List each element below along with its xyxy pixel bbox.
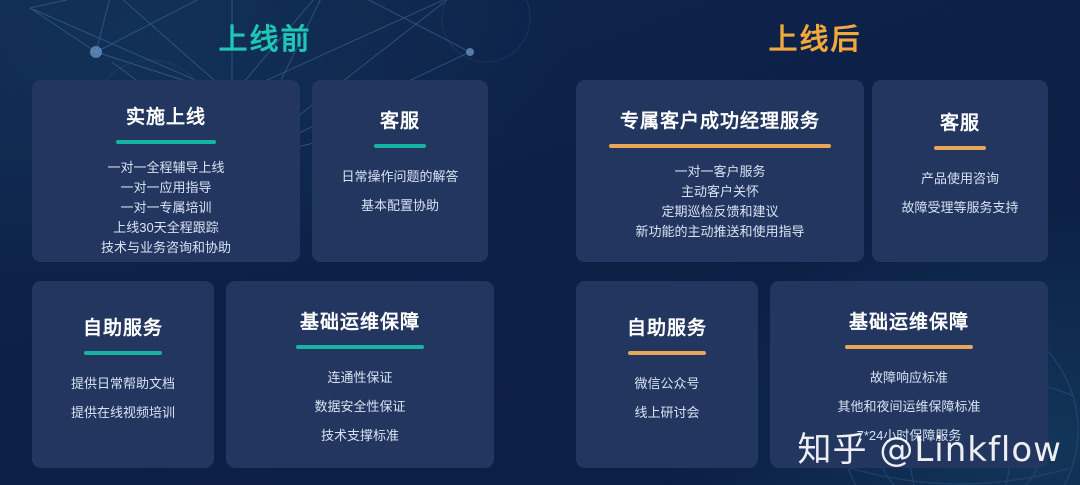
card-body: 产品使用咨询 故障受理等服务支持	[872, 164, 1048, 222]
card-line: 新功能的主动推送和使用指导	[576, 222, 864, 242]
title-underline	[934, 146, 986, 150]
card-title: 自助服务	[576, 313, 758, 340]
card-line: 一对一客户服务	[576, 162, 864, 182]
title-underline	[296, 345, 424, 349]
title-underline	[116, 140, 216, 144]
card-line: 连通性保证	[226, 363, 494, 392]
card-line: 故障受理等服务支持	[872, 193, 1048, 222]
card-line: 7*24小时保障服务	[770, 421, 1048, 450]
card-line: 其他和夜间运维保障标准	[770, 392, 1048, 421]
title-underline	[628, 351, 706, 355]
card-line: 微信公众号	[576, 369, 758, 398]
card-title: 基础运维保障	[770, 307, 1048, 334]
card-body: 一对一全程辅导上线 一对一应用指导 一对一专属培训 上线30天全程跟踪 技术与业…	[32, 158, 300, 258]
card-title: 实施上线	[32, 102, 300, 129]
card-line: 数据安全性保证	[226, 392, 494, 421]
card-line: 基本配置协助	[312, 191, 488, 220]
card-line: 提供日常帮助文档	[32, 369, 214, 398]
slide-canvas: 上线前 上线后 实施上线 一对一全程辅导上线 一对一应用指导 一对一专属培训 上…	[0, 0, 1080, 485]
card-line: 主动客户关怀	[576, 182, 864, 202]
card-line: 提供在线视频培训	[32, 398, 214, 427]
card-dedicated-csm[interactable]: 专属客户成功经理服务 一对一客户服务 主动客户关怀 定期巡检反馈和建议 新功能的…	[576, 80, 864, 262]
title-underline	[84, 351, 162, 355]
card-body: 微信公众号 线上研讨会	[576, 369, 758, 427]
card-line: 一对一应用指导	[32, 178, 300, 198]
card-line: 定期巡检反馈和建议	[576, 202, 864, 222]
card-body: 一对一客户服务 主动客户关怀 定期巡检反馈和建议 新功能的主动推送和使用指导	[576, 162, 864, 242]
card-implementation[interactable]: 实施上线 一对一全程辅导上线 一对一应用指导 一对一专属培训 上线30天全程跟踪…	[32, 80, 300, 262]
card-line: 线上研讨会	[576, 398, 758, 427]
card-customer-service-post[interactable]: 客服 产品使用咨询 故障受理等服务支持	[872, 80, 1048, 262]
card-line: 一对一专属培训	[32, 198, 300, 218]
card-ops-assurance-pre[interactable]: 基础运维保障 连通性保证 数据安全性保证 技术支撑标准	[226, 281, 494, 468]
title-underline	[374, 144, 426, 148]
card-body: 连通性保证 数据安全性保证 技术支撑标准	[226, 363, 494, 450]
card-title: 基础运维保障	[226, 307, 494, 334]
card-title: 自助服务	[32, 313, 214, 340]
card-line: 技术与业务咨询和协助	[32, 238, 300, 258]
card-line: 日常操作问题的解答	[312, 162, 488, 191]
card-body: 故障响应标准 其他和夜间运维保障标准 7*24小时保障服务	[770, 363, 1048, 450]
card-self-service-pre[interactable]: 自助服务 提供日常帮助文档 提供在线视频培训	[32, 281, 214, 468]
card-line: 故障响应标准	[770, 363, 1048, 392]
card-self-service-post[interactable]: 自助服务 微信公众号 线上研讨会	[576, 281, 758, 468]
heading-pre-launch: 上线前	[140, 16, 390, 58]
card-line: 技术支撑标准	[226, 421, 494, 450]
card-line: 产品使用咨询	[872, 164, 1048, 193]
card-ops-assurance-post[interactable]: 基础运维保障 故障响应标准 其他和夜间运维保障标准 7*24小时保障服务	[770, 281, 1048, 468]
card-title: 专属客户成功经理服务	[576, 106, 864, 133]
card-body: 提供日常帮助文档 提供在线视频培训	[32, 369, 214, 427]
card-customer-service-pre[interactable]: 客服 日常操作问题的解答 基本配置协助	[312, 80, 488, 262]
card-title: 客服	[312, 106, 488, 133]
title-underline	[845, 345, 973, 349]
card-title: 客服	[872, 108, 1048, 135]
card-line: 一对一全程辅导上线	[32, 158, 300, 178]
heading-post-launch: 上线后	[690, 16, 940, 58]
title-underline	[609, 144, 831, 148]
card-line: 上线30天全程跟踪	[32, 218, 300, 238]
card-body: 日常操作问题的解答 基本配置协助	[312, 162, 488, 220]
